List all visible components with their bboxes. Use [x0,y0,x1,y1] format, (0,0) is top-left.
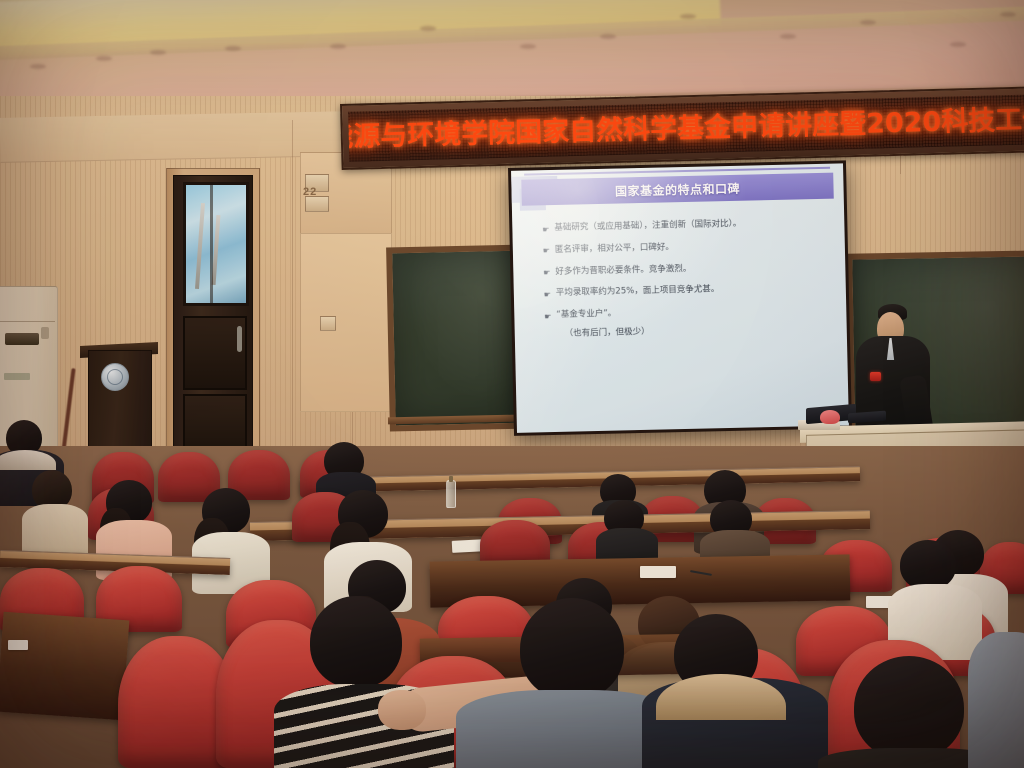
ac-control-knob[interactable] [41,327,49,339]
paper-sheet [640,566,676,578]
attendee-hand [378,690,426,730]
slide-bullet: ☛ 匿名评审，相对公平，口碑好。 [543,239,832,255]
attendee-head [900,540,956,590]
bullet-glyph-icon: ☛ [544,290,551,299]
presenter-badge [870,372,881,381]
attendee-front [648,596,828,768]
attendee-head [854,656,964,760]
led-banner-text: 新能源与环境学院国家自然科学基金申请讲座暨2020科技工作会 [348,105,1024,152]
slide-bullet: ☛ “基金专业户”。 [544,305,833,321]
slide-bullet-text: “基金专业户”。 [556,310,616,321]
attendee-front [968,612,1024,768]
attendee-head [310,596,402,688]
door-window [183,182,248,306]
bullet-glyph-icon: ☛ [543,246,550,255]
slide-bullet: ☛ 基础研究（或应用基础），注重创新（国际对比）。 [542,218,831,234]
ac-brand-mark [4,373,30,380]
slide-title-bar: 国家基金的特点和口碑 [521,173,834,206]
water-bottle [446,480,456,508]
bullet-glyph-icon: ☛ [543,268,550,277]
window-bar-icon [195,203,205,289]
attendee [704,500,776,564]
attendee [600,500,664,560]
wall-plaster-panel [300,230,392,412]
paper-sheet [8,640,28,650]
slide-bullet-text: 好多作为晋职必要条件。竞争激烈。 [555,264,691,277]
wall-hook [320,316,336,331]
podium-red-object [820,410,840,424]
bullet-glyph-icon: ☛ [544,312,551,321]
slide-body: ☛ 基础研究（或应用基础），注重创新（国际对比）。 ☛ 匿名评审，相对公平，口碑… [542,218,833,339]
ac-vent-icon [5,333,39,345]
slide-title: 国家基金的特点和口碑 [615,179,740,199]
slide-bullet-text: 匿名评审，相对公平，口碑好。 [555,243,674,255]
attendee-torso [968,632,1024,768]
lecture-hall-photo: 22 新能源与环境学院国家自然科学基金申请讲座暨2020科技工作会 国家基金的特… [0,0,1024,768]
side-door[interactable] [166,168,260,450]
projection-screen: 国家基金的特点和口碑 ☛ 基础研究（或应用基础），注重创新（国际对比）。 ☛ 匿… [508,160,852,436]
slide-bullet: ☛ 好多作为晋职必要条件。竞争激烈。 [543,261,832,277]
slide-subnote: （也有后门，但极少） [564,320,833,338]
slide-bullet-text: 平均录取率约为25%，面上项目竞争尤甚。 [556,286,720,299]
projected-slide: 国家基金的特点和口碑 ☛ 基础研究（或应用基础），注重创新（国际对比）。 ☛ 匿… [511,163,849,432]
room-number-label: 22 [303,186,317,198]
attendee-front [470,598,670,768]
door-handle[interactable] [237,326,242,352]
bullet-glyph-icon: ☛ [542,225,549,234]
desk-row-front [0,612,129,721]
light-switch-panel-2[interactable] [305,196,329,212]
slide-bullet: ☛ 平均录取率约为25%，面上项目竞争尤甚。 [544,283,833,299]
attendee-head [520,598,624,700]
attendee [26,470,96,540]
slide-bullet-text: 基础研究（或应用基础），注重创新（国际对比）。 [554,220,741,234]
university-emblem-icon [101,363,129,391]
door-leaf[interactable] [173,175,253,449]
led-panel: 新能源与环境学院国家自然科学基金申请讲座暨2020科技工作会 [348,95,1024,162]
blackboard-left [386,245,530,432]
